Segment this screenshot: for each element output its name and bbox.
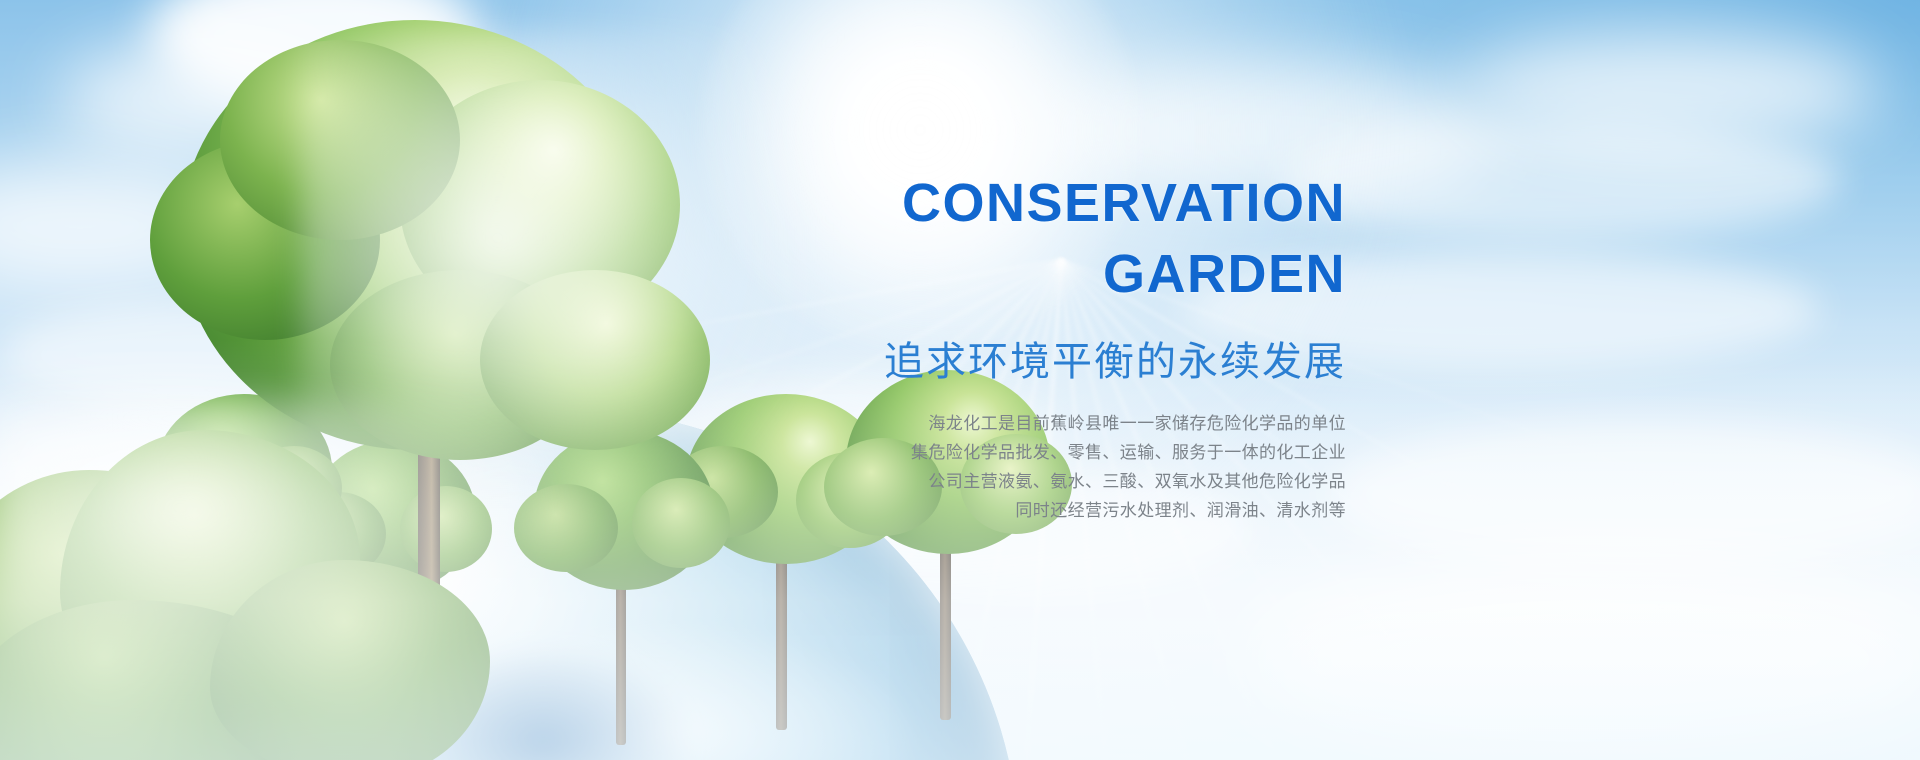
banner-subtitle: 追求环境平衡的永续发展 [876,337,1346,387]
description-line: 集危险化学品批发、零售、运输、服务于一体的化工企业 [876,438,1346,467]
banner-text-block: CONSERVATION GARDEN 追求环境平衡的永续发展 海龙化工是目前蕉… [876,168,1346,525]
banner-description: 海龙化工是目前蕉岭县唯一一家储存危险化学品的单位 集危险化学品批发、零售、运输、… [876,409,1346,526]
hero-banner: CONSERVATION GARDEN 追求环境平衡的永续发展 海龙化工是目前蕉… [0,0,1920,760]
description-line: 公司主营液氨、氨水、三酸、双氧水及其他危险化学品 [876,467,1346,496]
headline-line-2: GARDEN [876,239,1346,310]
description-line: 海龙化工是目前蕉岭县唯一一家储存危险化学品的单位 [876,409,1346,438]
description-line: 同时还经营污水处理剂、润滑油、清水剂等 [876,496,1346,525]
headline-line-1: CONSERVATION [902,173,1346,233]
page-title: CONSERVATION GARDEN [876,168,1346,311]
